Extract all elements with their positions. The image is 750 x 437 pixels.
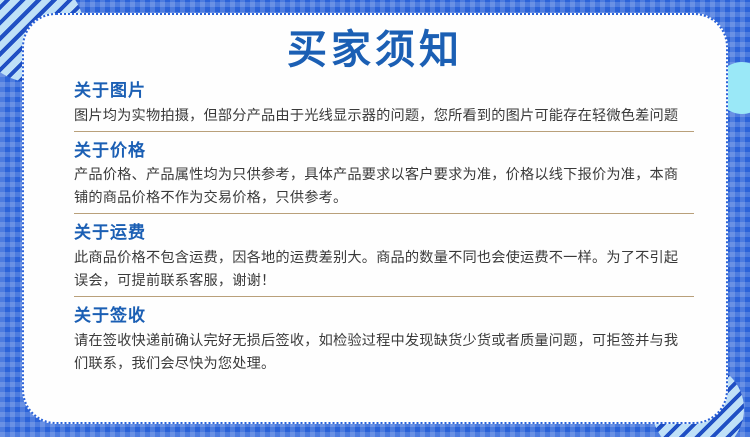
notice-sections: 关于图片 图片均为实物拍摄，但部分产品由于光线显示器的问题，您所看到的图片可能存… (24, 73, 726, 379)
notice-card: 买家须知 关于图片 图片均为实物拍摄，但部分产品由于光线显示器的问题，您所看到的… (22, 13, 728, 424)
section-heading-images: 关于图片 (74, 79, 694, 104)
notice-section-receipt: 关于签收 请在签收快递前确认完好无损后签收，如检验过程中发现缺货少货或者质量问题… (74, 304, 694, 379)
page-title: 买家须知 (287, 29, 463, 71)
section-body-price: 产品价格、产品属性均为只供参考，具体产品要求以客户要求为准，价格以线下报价为准，… (74, 164, 694, 210)
section-body-images: 图片均为实物拍摄，但部分产品由于光线显示器的问题，您所看到的图片可能存在轻微色差… (74, 105, 694, 128)
notice-section-images: 关于图片 图片均为实物拍摄，但部分产品由于光线显示器的问题，您所看到的图片可能存… (74, 79, 694, 132)
section-heading-receipt: 关于签收 (74, 304, 694, 329)
notice-section-price: 关于价格 产品价格、产品属性均为只供参考，具体产品要求以客户要求为准，价格以线下… (74, 139, 694, 215)
section-heading-shipping: 关于运费 (74, 221, 694, 246)
title-row: 买家须知 (24, 15, 726, 73)
buyer-notice-poster: 买家须知 关于图片 图片均为实物拍摄，但部分产品由于光线显示器的问题，您所看到的… (0, 0, 750, 437)
section-heading-price: 关于价格 (74, 139, 694, 164)
notice-section-shipping: 关于运费 此商品价格不包含运费，因各地的运费差别大。商品的数量不同也会使运费不一… (74, 221, 694, 297)
section-body-receipt: 请在签收快递前确认完好无损后签收，如检验过程中发现缺货少货或者质量问题，可拒签并… (74, 330, 694, 376)
section-body-shipping: 此商品价格不包含运费，因各地的运费差别大。商品的数量不同也会使运费不一样。为了不… (74, 247, 694, 293)
